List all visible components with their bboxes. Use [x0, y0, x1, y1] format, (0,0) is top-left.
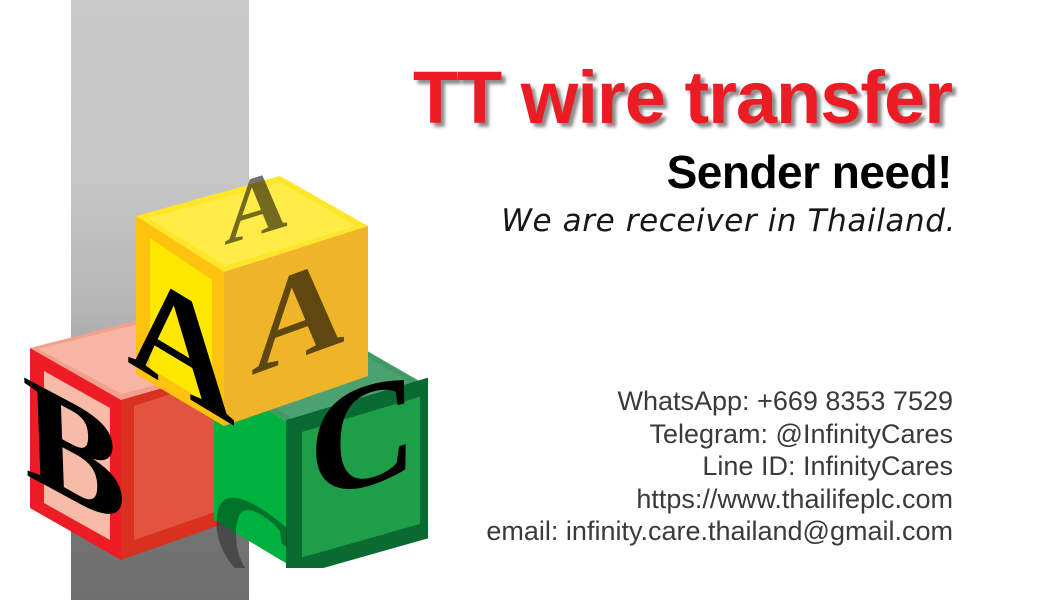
headline: TT wire transfer — [260, 58, 952, 138]
contact-line-website[interactable]: https://www.thailifeplc.com — [380, 483, 953, 516]
contact-line-email[interactable]: email: infinity.care.thailand@gmail.com — [380, 515, 953, 548]
contact-line-line-id: Line ID: InfinityCares — [380, 450, 953, 483]
contact-line-whatsapp: WhatsApp: +669 8353 7529 — [380, 385, 953, 418]
contact-details: WhatsApp: +669 8353 7529 Telegram: @Infi… — [380, 385, 953, 548]
flyer-canvas: B C C — [0, 0, 1063, 600]
contact-line-telegram: Telegram: @InfinityCares — [380, 418, 953, 451]
tagline: We are receiver in Thailand. — [400, 200, 956, 242]
subheadline: Sender need! — [360, 146, 952, 198]
abc-blocks-illustration: B C C — [18, 168, 428, 568]
